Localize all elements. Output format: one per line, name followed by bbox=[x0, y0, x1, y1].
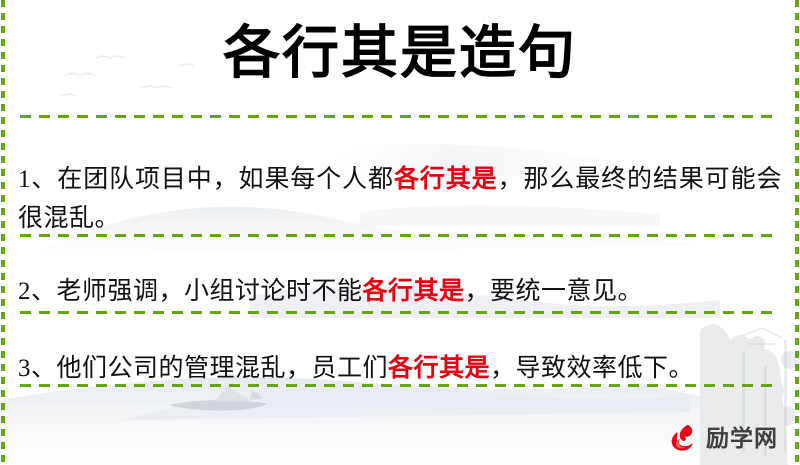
sentence-text-after: ，导致效率低下。 bbox=[490, 355, 694, 382]
left-dashed-border bbox=[1, 0, 5, 465]
keyword-idiom: 各行其是 bbox=[363, 278, 465, 305]
separator-2 bbox=[20, 311, 780, 314]
flame-swirl-icon bbox=[666, 421, 700, 455]
page-root: 各行其是造句 1、在团队项目中，如果每个人都各行其是，那么最终的结果可能会很混乱… bbox=[0, 0, 800, 465]
list-item: 2、老师强调，小组讨论时不能各行其是，要统一意见。 bbox=[18, 272, 782, 311]
list-item: 3、他们公司的管理混乱，员工们各行其是，导致效率低下。 bbox=[18, 349, 782, 388]
logo-text: 励学网 bbox=[706, 427, 778, 450]
keyword-idiom: 各行其是 bbox=[394, 166, 498, 193]
title-section: 各行其是造句 bbox=[0, 0, 800, 107]
page-title: 各行其是造句 bbox=[223, 25, 577, 82]
keyword-idiom: 各行其是 bbox=[388, 355, 490, 382]
sentence-text-before: 老师强调，小组讨论时不能 bbox=[57, 278, 363, 305]
sentence-text-after: ，要统一意见。 bbox=[465, 278, 644, 305]
sentence-text-before: 在团队项目中，如果每个人都 bbox=[57, 166, 394, 193]
separator-1 bbox=[20, 234, 780, 237]
list-item: 1、在团队项目中，如果每个人都各行其是，那么最终的结果可能会很混乱。 bbox=[18, 160, 782, 238]
separator-top bbox=[20, 115, 780, 118]
sentence-text-before: 他们公司的管理混乱，员工们 bbox=[57, 355, 389, 382]
right-dashed-border bbox=[795, 0, 799, 465]
sentence-index: 3、 bbox=[18, 355, 57, 382]
sentence-index: 1、 bbox=[18, 166, 57, 193]
separator-bottom bbox=[20, 384, 780, 387]
sentence-index: 2、 bbox=[18, 278, 57, 305]
site-logo-watermark: 励学网 bbox=[666, 421, 778, 455]
